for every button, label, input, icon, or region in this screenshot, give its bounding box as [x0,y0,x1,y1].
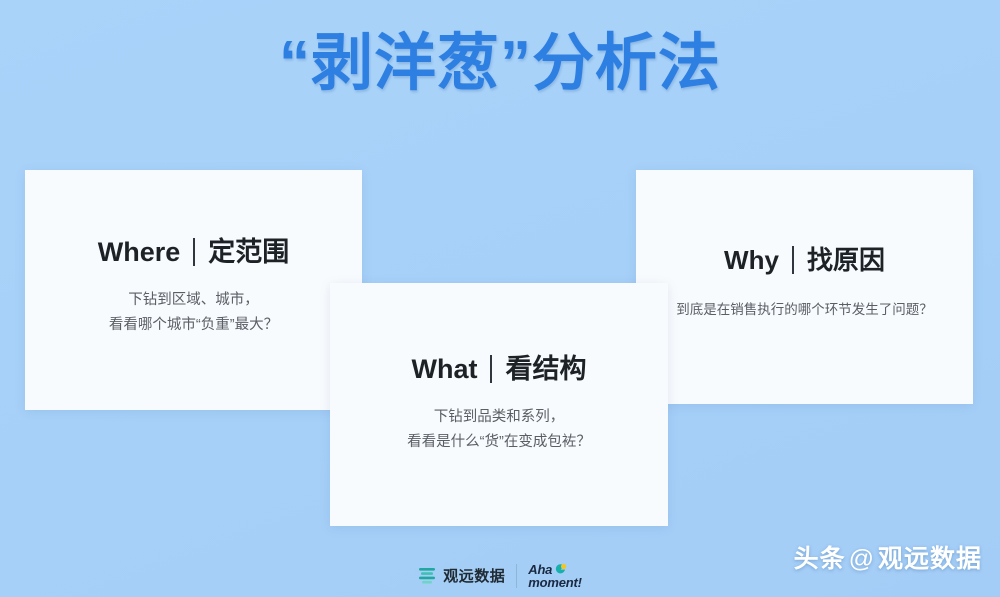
card-why-heading-en: Why [724,247,779,273]
watermark-at: @ [849,545,875,573]
card-where-heading-en: Where [98,239,181,266]
card-where-heading: Where 定范围 [98,238,290,266]
card-why-heading: Why 找原因 [724,246,885,274]
card-what-heading: What 看结构 [412,355,587,383]
card-what: What 看结构 下钻到品类和系列， 看看是什么“货”在变成包袏？ [330,283,668,526]
watermark-account: 观远数据 [878,545,982,573]
aha-line-1: Aha [528,563,552,576]
stacked-bars-icon [418,566,437,586]
card-why: Why 找原因 到底是在销售执行的哪个环节发生了问题？ [636,170,973,404]
card-why-heading-zh: 找原因 [807,247,885,273]
card-what-heading-zh: 看结构 [505,356,586,383]
slide-canvas: “剥洋葱”分析法 Where 定范围 下钻到区域、城市， 看看哪个城市“负重”最… [0,0,1000,597]
aha-line-2: moment! [528,576,582,589]
heading-separator-icon [792,246,794,274]
watermark-prefix: 头条 [794,545,846,573]
card-why-body: 到底是在销售执行的哪个环节发生了问题？ [658,298,951,322]
heading-separator-icon [490,355,492,383]
card-what-heading-en: What [412,356,478,383]
brand-aha-moment: Aha moment! [528,563,582,590]
brand-divider [516,564,517,588]
card-where-body: 下钻到区域、城市， 看看哪个城市“负重”最大？ [91,288,296,339]
card-where-heading-zh: 定范围 [208,239,289,266]
heading-separator-icon [193,238,195,266]
aha-circle-icon [554,563,567,576]
brand-guandata: 观远数据 [418,565,505,586]
brand-name: 观远数据 [443,565,505,586]
card-what-body: 下钻到品类和系列， 看看是什么“货”在变成包袏？ [389,405,609,456]
watermark: 头条@观远数据 [794,539,982,575]
page-title: “剥洋葱”分析法 [0,28,1000,99]
card-where: Where 定范围 下钻到区域、城市， 看看哪个城市“负重”最大？ [25,170,362,410]
